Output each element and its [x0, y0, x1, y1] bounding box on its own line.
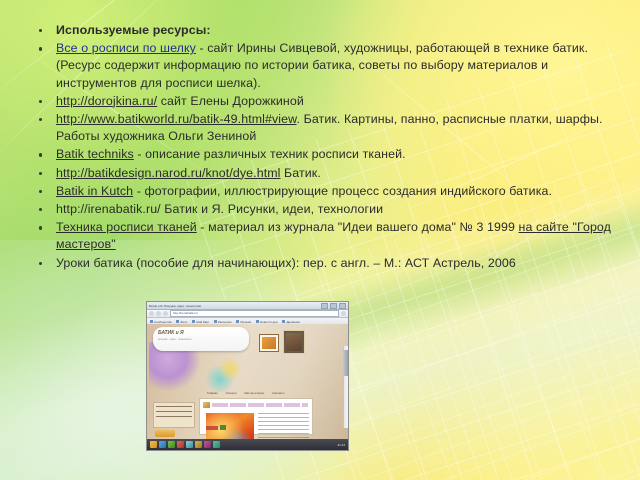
framed-artwork-1 [259, 334, 279, 352]
list-item-batikdesign: http://batikdesign.narod.ru/knot/dye.htm… [34, 165, 632, 182]
screenshot-toolbar: http://irenabatik.ru/ [147, 310, 348, 318]
link-batik-techniks[interactable]: Batik techniks [56, 147, 134, 161]
list-item-silk-painting: Все о росписи по шелку - сайт Ирины Сивц… [34, 40, 632, 92]
taskbar-explorer-icon [168, 441, 175, 448]
batikdesign-description: Батик. [281, 166, 321, 180]
site-post-area [199, 398, 313, 435]
taskbar-media-icon [177, 441, 184, 448]
link-vse-o-rospisi-po-shelku[interactable]: Все о росписи по шелку [56, 41, 196, 55]
maximize-icon [330, 303, 337, 309]
bookmark-star-icon [341, 311, 346, 316]
screenshot-page-body: БАТИК и Я рисунки · идеи · технологии Гл… [147, 324, 348, 439]
site-nav-tabs: Главная Галерея Мастер-классы Контакты [207, 390, 317, 396]
back-icon [149, 311, 154, 316]
post-tag-row [206, 425, 246, 430]
batik-in-kutch-description: - фотографии, иллюстрирующие процесс соз… [133, 184, 552, 198]
page-scrollbar [343, 346, 348, 428]
uroki-batika-text: Уроки батика (пособие для начинающих): п… [56, 256, 516, 270]
batik-website-screenshot: Батик и Я. Рисунки, идеи, технологии htt… [146, 301, 349, 451]
framed-artwork-2 [283, 330, 305, 354]
bookmark-icon [176, 320, 179, 323]
bookmark-item: Новости дня [256, 320, 277, 324]
site-banner: БАТИК и Я рисунки · идеи · технологии [153, 327, 249, 351]
site-tab-gallery: Галерея [226, 391, 237, 395]
slide-content: Используемые ресурсы: Все о росписи по ш… [0, 0, 640, 273]
list-item-dorojkina: http://dorojkina.ru/ сайт Елены Дорожкин… [34, 93, 632, 110]
dorojkina-description: сайт Елены Дорожкиной [157, 94, 304, 108]
os-taskbar: 21:14 [147, 439, 348, 450]
link-batik-in-kutch[interactable]: Batik in Kutch [56, 184, 133, 198]
link-tehnika-rospisi-tkanei[interactable]: Техника росписи тканей [56, 220, 197, 234]
bookmark-item: Дневники [282, 320, 299, 324]
sidebar-card [153, 402, 195, 428]
list-item-batik-techniks: Batik techniks - описание различных техн… [34, 146, 632, 163]
link-dorojkina[interactable]: http://dorojkina.ru/ [56, 94, 157, 108]
list-item-irenabatik: http://irenabatik.ru/ Батик и Я. Рисунки… [34, 201, 632, 218]
forward-icon [156, 311, 161, 316]
taskbar-app2-icon [213, 441, 220, 448]
bookmark-icon [256, 320, 259, 323]
list-item-batik-in-kutch: Batik in Kutch - фотографии, иллюстрирую… [34, 183, 632, 200]
screenshot-titlebar: Батик и Я. Рисунки, идеи, технологии [147, 302, 348, 310]
batik-techniks-description: - описание различных техник росписи ткан… [134, 147, 406, 161]
sidebar-badge [155, 430, 175, 437]
bookmark-item: Сообщества [150, 320, 171, 324]
link-batikworld[interactable]: http://www.batikworld.ru/batik-49.html#v… [56, 112, 297, 126]
link-batikdesign[interactable]: http://batikdesign.narod.ru/knot/dye.htm… [56, 166, 281, 180]
presentation-slide: Используемые ресурсы: Все о росписи по ш… [0, 0, 640, 480]
bookmark-item: Музыка [236, 320, 251, 324]
heading-text: Используемые ресурсы: [56, 23, 211, 37]
taskbar-folder-icon [195, 441, 202, 448]
site-tab-main: Главная [207, 391, 218, 395]
bookmark-icon [214, 320, 217, 323]
address-bar: http://irenabatik.ru/ [170, 310, 339, 317]
screenshot-window-title: Батик и Я. Рисунки, идеи, технологии [149, 304, 319, 308]
site-tab-workshops: Мастер-классы [244, 391, 264, 395]
list-item-heading: Используемые ресурсы: [34, 22, 632, 39]
bookmark-icon [236, 320, 239, 323]
bookmark-icon [192, 320, 195, 323]
site-sidebar [151, 402, 195, 433]
reload-icon [163, 311, 168, 316]
taskbar-start-icon [150, 441, 157, 448]
taskbar-browser-icon [159, 441, 166, 448]
decorative-yellow-shape [217, 358, 243, 380]
minimize-icon [321, 303, 328, 309]
resource-list: Используемые ресурсы: Все о росписи по ш… [34, 22, 632, 272]
list-item-tehnika-rospisi: Техника росписи тканей - материал из жур… [34, 219, 632, 253]
bookmark-item: Фото [176, 320, 187, 324]
post-avatar [203, 402, 210, 408]
site-tab-contacts: Контакты [272, 391, 284, 395]
tehnika-rospisi-description: - материал из журнала "Идеи вашего дома"… [197, 220, 519, 234]
close-icon [339, 303, 346, 309]
taskbar-clock: 21:14 [337, 443, 345, 447]
site-banner-title: БАТИК и Я [158, 330, 244, 336]
site-banner-subtitle: рисунки · идеи · технологии [158, 338, 244, 341]
taskbar-mail-icon [186, 441, 193, 448]
bookmark-icon [282, 320, 285, 323]
post-title [212, 403, 308, 407]
bookmark-item: Рассылки [214, 320, 231, 324]
taskbar-app-icon [204, 441, 211, 448]
irenabatik-text: http://irenabatik.ru/ Батик и Я. Рисунки… [56, 202, 383, 216]
list-item-batikworld: http://www.batikworld.ru/batik-49.html#v… [34, 111, 632, 145]
bookmark-item: Мой Мир [192, 320, 209, 324]
list-item-uroki-batika: Уроки батика (пособие для начинающих): п… [34, 255, 632, 272]
post-text-column [258, 413, 309, 439]
bookmark-icon [150, 320, 153, 323]
